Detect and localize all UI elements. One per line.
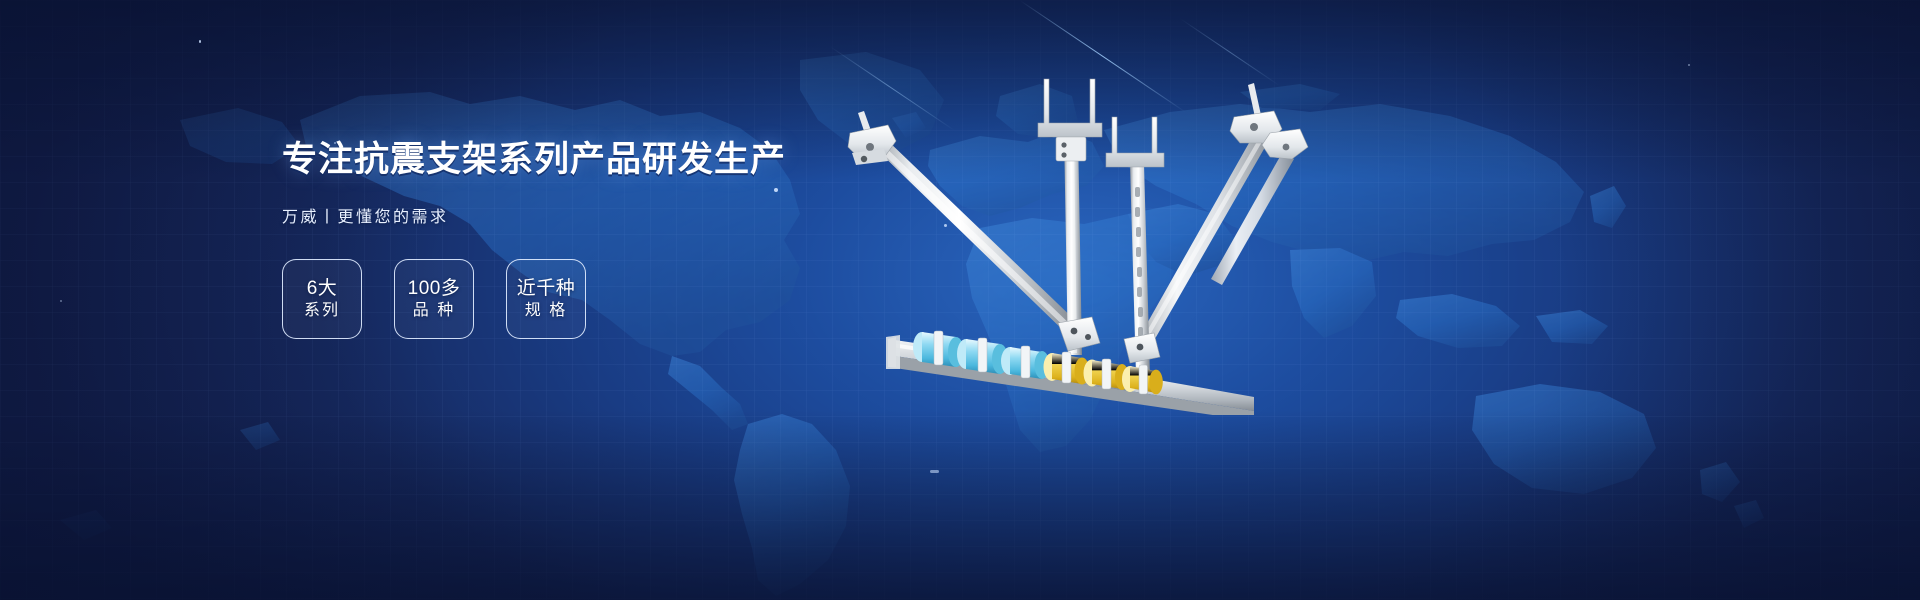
badge-line2: 规 格: [525, 303, 567, 319]
pipe-cyan: [913, 331, 964, 367]
star-dot: [60, 300, 62, 302]
star-dot: [199, 40, 201, 43]
pipe-yellow: [1084, 359, 1130, 390]
pipe-yellow: [1122, 365, 1163, 394]
feature-badge-specs[interactable]: 近千种 规 格: [506, 259, 586, 339]
pipe-cyan: [1001, 346, 1050, 379]
badge-line1: 100多: [408, 279, 461, 298]
joint-plate-left: [1058, 317, 1100, 351]
star-dot: [1688, 64, 1690, 66]
banner-headline: 专注抗震支架系列产品研发生产: [282, 140, 802, 179]
badge-line1: 6大: [307, 279, 338, 298]
banner-subtitle: 万威丨更懂您的需求: [282, 203, 802, 227]
feature-badge-list: 6大 系列 100多 品 种 近千种 规 格: [282, 259, 802, 339]
brace-strut-left: [848, 111, 1080, 335]
banner-copy: 专注抗震支架系列产品研发生产 万威丨更懂您的需求 6大 系列 100多 品 种 …: [282, 140, 802, 339]
star-dot: [930, 470, 939, 473]
feature-badge-series[interactable]: 6大 系列: [282, 259, 362, 339]
product-image: [830, 55, 1350, 415]
joint-plate-right: [1124, 333, 1160, 363]
badge-line1: 近千种: [517, 279, 576, 298]
feature-badge-varieties[interactable]: 100多 品 种: [394, 259, 474, 339]
pipe-cyan: [957, 338, 1008, 374]
hero-banner: 专注抗震支架系列产品研发生产 万威丨更懂您的需求 6大 系列 100多 品 种 …: [0, 0, 1920, 600]
badge-line2: 品 种: [413, 303, 455, 319]
pipe-yellow: [1044, 352, 1090, 385]
badge-line2: 系列: [304, 303, 340, 319]
